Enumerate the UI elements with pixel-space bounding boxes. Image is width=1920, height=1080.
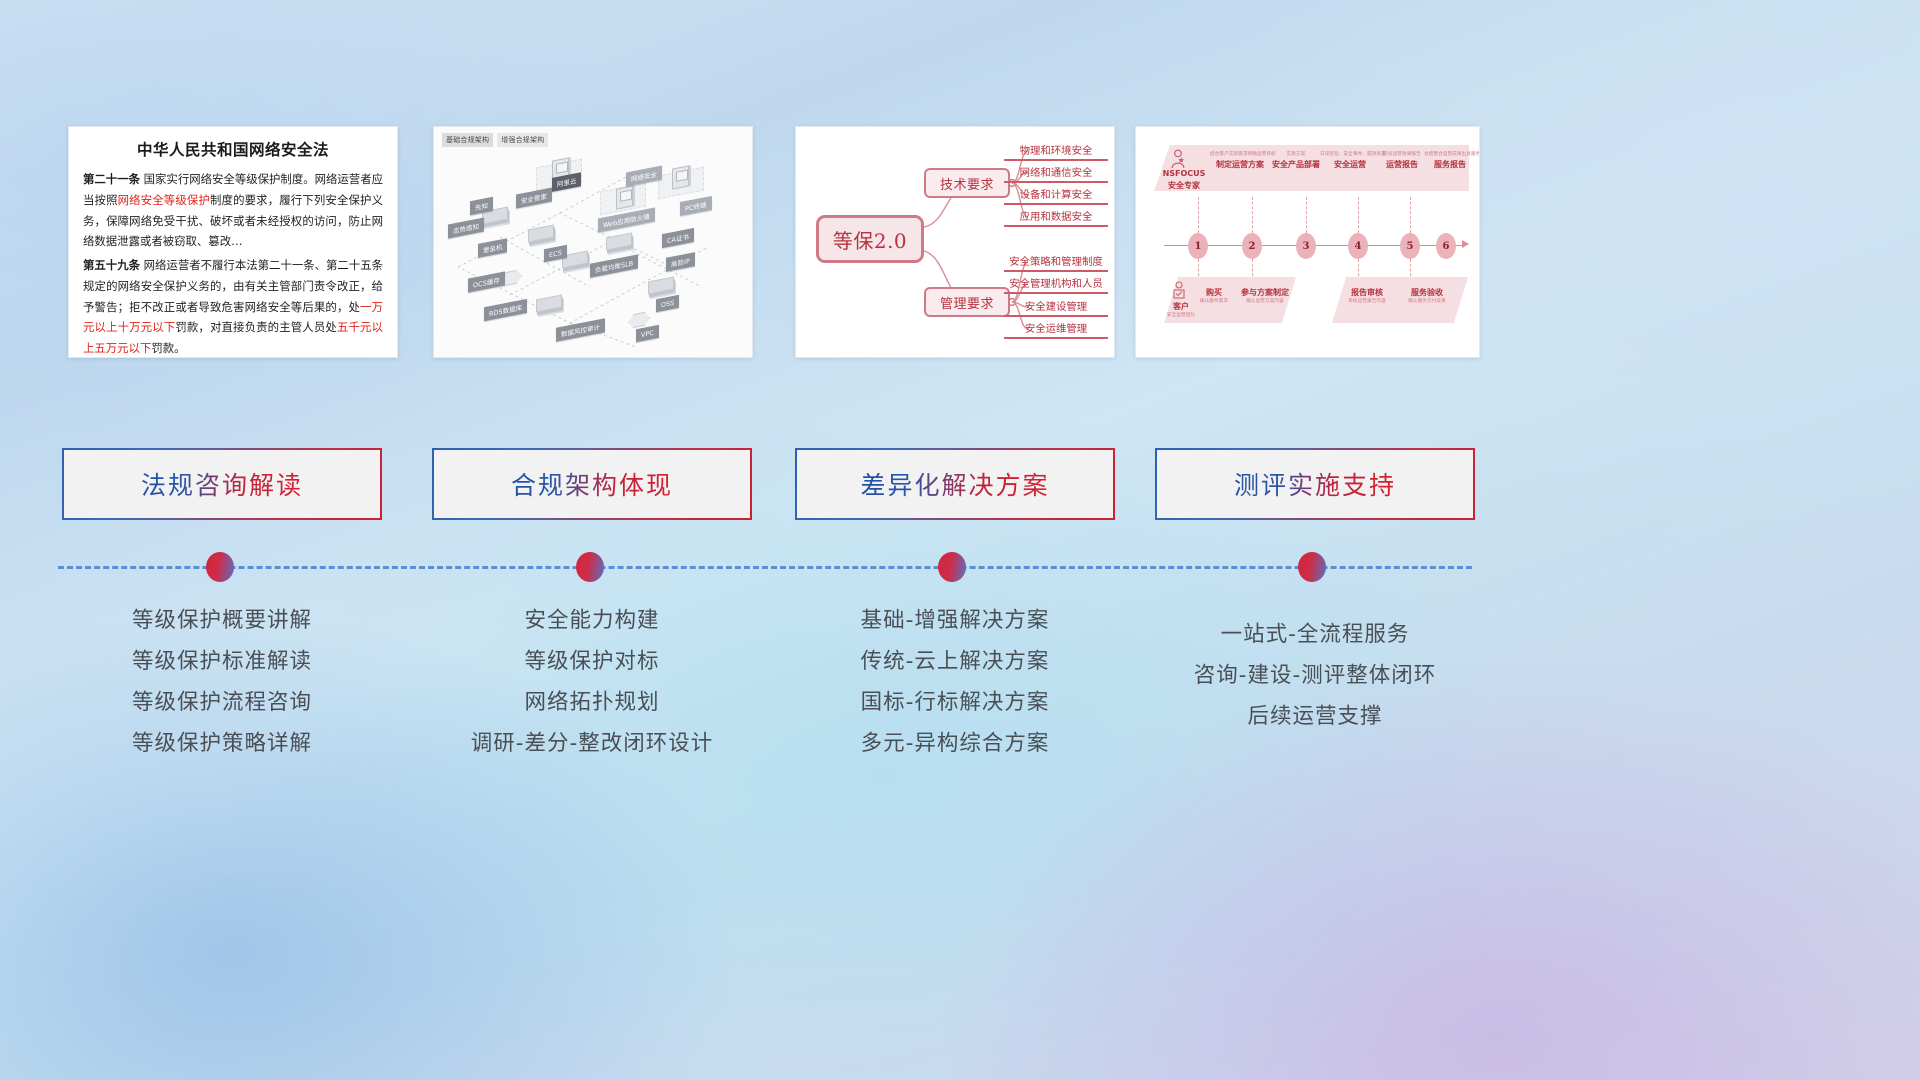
arch-server-3 (616, 185, 633, 209)
timeline-dot-6: 6 (1436, 233, 1456, 259)
mindmap-leaf-physical-env: 物理和环境安全 (1004, 142, 1108, 161)
feature-box-compliance-architecture[interactable]: 合规架构体现 (432, 448, 752, 520)
timeline-step-3: 日常巡检、安全事件、漏洞处置 安全运营 (1320, 151, 1380, 170)
list-item: 调研-差分-整改闭环设计 (432, 723, 752, 764)
mindmap-leaf-network-comm: 网络和通信安全 (1004, 164, 1108, 183)
timeline-dot-4: 4 (1348, 233, 1368, 259)
list-item: 咨询-建设-测评整体闭环 (1155, 655, 1475, 696)
timeline-connector-2 (1252, 197, 1253, 233)
feature-box-assessment-support[interactable]: 测评实施支持 (1155, 448, 1475, 520)
card-mindmap-dengbao: 等保2.0 技术要求 管理要求 物理和环境安全 网络和通信安全 设备和计算安全 … (795, 126, 1115, 358)
card-cybersecurity-law: 中华人民共和国网络安全法 第二十一条 国家实行网络安全等级保护制度。网络运营者应… (68, 126, 398, 358)
tab-basic-compliance[interactable]: 基础合规架构 (442, 133, 493, 147)
timeline-step-1: 结合客户实际需求明确运营目标 制定运营方案 (1210, 151, 1270, 170)
mindmap-leaf-org-personnel: 安全管理机构和人员 (1004, 275, 1108, 294)
card-cloud-architecture: 基础合规架构 增强合规架构 (433, 126, 753, 358)
feature-list-4: 一站式-全流程服务 咨询-建设-测评整体闭环 后续运营支撑 (1155, 614, 1475, 737)
mindmap-leaf-app-data: 应用和数据安全 (1004, 208, 1108, 227)
feature-list-3: 基础-增强解决方案 传统-云上解决方案 国标-行标解决方案 多元-异构综合方案 (795, 600, 1115, 764)
mindmap-leaf-ops-mgmt: 安全运维管理 (1004, 320, 1108, 339)
step-3-sub: 日常巡检、安全事件、漏洞处置 (1320, 151, 1380, 157)
bottom-3-main: 报告审核 (1338, 287, 1396, 298)
mindmap-branch-technical: 技术要求 (924, 168, 1010, 198)
step-5-main: 服务报告 (1424, 159, 1476, 170)
timeline-step-2: 实施方案 安全产品部署 (1266, 151, 1326, 170)
feature-title-3: 差异化解决方案 (860, 466, 1049, 502)
timeline-bottom-item-3: 报告审核 审核运营报告内容 (1338, 285, 1396, 304)
mindmap-leaf-build-mgmt: 安全建设管理 (1004, 298, 1108, 317)
timeline-actor-expert: NSFOCUS 安全专家 (1162, 167, 1206, 191)
timeline-dot-1: 1 (1188, 233, 1208, 259)
article-59-text-c: 罚款。 (151, 341, 185, 355)
card-nsfocus-service-timeline: NSFOCUS 安全专家 结合客户实际需求明确运营目标 制定运营方案 实施方案 … (1135, 126, 1480, 358)
feature-box-differentiated-solution[interactable]: 差异化解决方案 (795, 448, 1115, 520)
architecture-tabs: 基础合规架构 增强合规架构 (442, 133, 548, 147)
list-item: 等级保护对标 (432, 641, 752, 682)
timeline-node-4[interactable] (1298, 552, 1326, 582)
step-2-sub: 实施方案 (1266, 151, 1326, 157)
feature-title-4: 测评实施支持 (1234, 466, 1396, 502)
list-item: 传统-云上解决方案 (795, 641, 1115, 682)
step-1-sub: 结合客户实际需求明确运营目标 (1210, 151, 1270, 157)
article-21-label: 第二十一条 (83, 172, 140, 186)
step-1-main: 制定运营方案 (1210, 159, 1270, 170)
customer-person-icon (1172, 281, 1186, 299)
mindmap-branch-management: 管理要求 (924, 287, 1010, 317)
list-item: 多元-异构综合方案 (795, 723, 1115, 764)
list-item: 基础-增强解决方案 (795, 600, 1115, 641)
bottom-1-main: 购买 (1194, 287, 1234, 298)
step-5-sub: 总结整合运营成果出具服务效果 (1424, 151, 1476, 157)
feature-title-2: 合规架构体现 (511, 466, 673, 502)
law-document: 中华人民共和国网络安全法 第二十一条 国家实行网络安全等级保护制度。网络运营者应… (69, 127, 397, 358)
timeline-bottom-item-1: 购买 确认服务需求 (1194, 285, 1234, 304)
timeline-dashed-line (58, 566, 1472, 569)
timeline-arrow-icon (1462, 240, 1469, 248)
timeline-node-1[interactable] (206, 552, 234, 582)
feature-boxes-row: 法规咨询解读 合规架构体现 差异化解决方案 测评实施支持 (0, 448, 1920, 520)
customer-line1: 客户 (1166, 301, 1196, 312)
process-timeline (58, 566, 1472, 568)
timeline-dot-2: 2 (1242, 233, 1262, 259)
expert-line1: NSFOCUS (1162, 169, 1206, 178)
step-3-main: 安全运营 (1320, 159, 1380, 170)
timeline-connector-4 (1358, 197, 1359, 233)
timeline-actor-customer: 客户 安全运营团队 (1166, 299, 1196, 318)
customer-line2: 安全运营团队 (1166, 312, 1196, 318)
list-item: 网络拓扑规划 (432, 682, 752, 723)
step-2-main: 安全产品部署 (1266, 159, 1326, 170)
feature-title-1: 法规咨询解读 (141, 466, 303, 502)
mindmap-leaf-device-compute: 设备和计算安全 (1004, 186, 1108, 205)
service-timeline: NSFOCUS 安全专家 结合客户实际需求明确运营目标 制定运营方案 实施方案 … (1136, 127, 1479, 357)
list-item: 国标-行标解决方案 (795, 682, 1115, 723)
feature-list-2: 安全能力构建 等级保护对标 网络拓扑规划 调研-差分-整改闭环设计 (432, 600, 752, 764)
step-4-sub: 阶段运营效果报告 (1374, 151, 1430, 157)
mindmap: 等保2.0 技术要求 管理要求 物理和环境安全 网络和通信安全 设备和计算安全 … (796, 127, 1114, 357)
law-article-59: 第五十九条 网络运营者不履行本法第二十一条、第二十五条规定的网络安全保护义务的，… (83, 255, 383, 358)
article-59-text-b: 罚款，对直接负责的主管人员处 (175, 320, 337, 334)
list-item: 安全能力构建 (432, 600, 752, 641)
timeline-node-3[interactable] (938, 552, 966, 582)
tab-enhanced-compliance[interactable]: 增强合规架构 (497, 133, 548, 147)
mindmap-root-node: 等保2.0 (816, 215, 924, 263)
timeline-dot-5: 5 (1400, 233, 1420, 259)
list-item: 等级保护概要讲解 (62, 600, 382, 641)
image-cards-row: 中华人民共和国网络安全法 第二十一条 国家实行网络安全等级保护制度。网络运营者应… (0, 126, 1920, 358)
timeline-connector-1 (1198, 197, 1199, 233)
bottom-3-sub: 审核运营报告内容 (1338, 298, 1396, 304)
law-article-21: 第二十一条 国家实行网络安全等级保护制度。网络运营者应当按照网络安全等级保护制度… (83, 169, 383, 252)
expert-person-icon (1170, 149, 1186, 169)
timeline-bottom-item-2: 参与方案制定 确认运营方案内容 (1234, 285, 1296, 304)
list-item: 等级保护标准解读 (62, 641, 382, 682)
timeline-step-4: 阶段运营效果报告 运营报告 (1374, 151, 1430, 170)
bottom-2-sub: 确认运营方案内容 (1234, 298, 1296, 304)
timeline-dot-3: 3 (1296, 233, 1316, 259)
feature-list-1: 等级保护概要讲解 等级保护标准解读 等级保护流程咨询 等级保护策略详解 (62, 600, 382, 764)
list-item: 一站式-全流程服务 (1155, 614, 1475, 655)
timeline-step-5: 总结整合运营成果出具服务效果 服务报告 (1424, 151, 1476, 170)
timeline-connector-5 (1410, 197, 1411, 233)
bottom-4-sub: 确认服务交付成果 (1398, 298, 1456, 304)
bottom-2-main: 参与方案制定 (1234, 287, 1296, 298)
timeline-bottom-item-4: 服务验收 确认服务交付成果 (1398, 285, 1456, 304)
arch-server-2 (672, 165, 689, 189)
list-item: 后续运营支撑 (1155, 696, 1475, 737)
mindmap-leaf-policy-system: 安全策略和管理制度 (1004, 253, 1108, 272)
bottom-1-sub: 确认服务需求 (1194, 298, 1234, 304)
step-4-main: 运营报告 (1374, 159, 1430, 170)
list-item: 等级保护策略详解 (62, 723, 382, 764)
bottom-4-main: 服务验收 (1398, 287, 1456, 298)
timeline-connector-3 (1306, 197, 1307, 233)
law-title: 中华人民共和国网络安全法 (83, 138, 383, 160)
architecture-canvas: 阿里云 先知 态势感知 安全管家 网络安全 PC终端 Web应用防火墙 堡垒机 … (440, 147, 746, 351)
feature-box-regulation-consulting[interactable]: 法规咨询解读 (62, 448, 382, 520)
article-59-label: 第五十九条 (83, 258, 140, 272)
expert-line2: 安全专家 (1162, 180, 1206, 191)
architecture-diagram: 基础合规架构 增强合规架构 (434, 127, 752, 357)
list-item: 等级保护流程咨询 (62, 682, 382, 723)
timeline-node-2[interactable] (576, 552, 604, 582)
article-21-highlight: 网络安全等级保护 (118, 193, 210, 207)
